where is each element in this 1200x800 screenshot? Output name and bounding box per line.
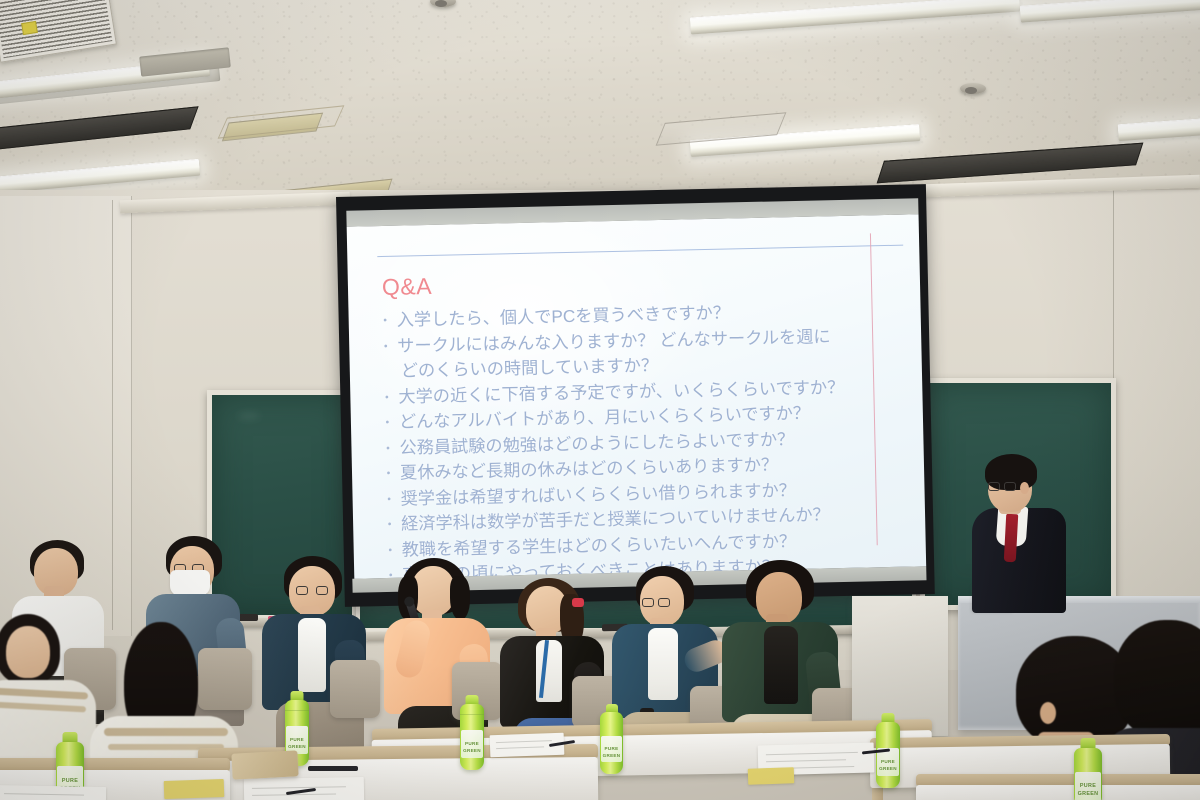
attendee-hair [1114,620,1200,738]
bottle-label: PURE GREEN [1075,772,1101,800]
bottle-brand-line2: GREEN [286,744,308,749]
sticky-note[interactable] [748,767,795,785]
teacher-ear [1020,482,1029,494]
bottle-brand-line1: PURE [57,778,83,784]
bottle-ring [460,714,484,715]
desk-pen-groove [308,766,358,771]
slide-bullet-list: ・ 入学したら、個人でPCを買うべきですか？ ・ サークルにはみんな入りますか？… [378,297,900,579]
bottle-brand-line1: PURE [877,759,899,764]
teacher-glasses-icon [988,482,1016,490]
bullet-marker-icon: ・ [379,333,393,359]
bottle-label: PURE GREEN [601,736,622,762]
attendee-ear [1040,702,1056,724]
paper-line [496,746,544,749]
person-student-navy-shirt [262,556,374,756]
slide-title: Q&A [382,273,433,301]
wooden-clipboard[interactable] [231,750,298,779]
paper-line [766,752,858,755]
bottle-brand-line1: PURE [286,737,308,742]
bullet-marker-icon: ・ [380,384,394,410]
drink-bottle[interactable]: PURE GREEN [600,712,623,774]
attendee-head [6,626,50,678]
bottle-brand-line2: GREEN [461,748,483,753]
bottle-brand-line1: PURE [601,746,622,751]
teacher-necktie [1004,514,1018,563]
paper-line [496,740,552,743]
slide-canvas: Q&A ・ 入学したら、個人でPCを買うべきですか？ ・ サークルにはみんな入り… [347,214,927,578]
bottle-brand-line1: PURE [1075,783,1101,789]
bullet-marker-icon: ・ [383,512,397,538]
handout-paper[interactable] [0,785,106,800]
drink-bottle[interactable]: PURE GREEN [1074,748,1102,800]
drink-bottle[interactable]: PURE GREEN [876,722,900,788]
slide-header-rule [377,245,903,257]
bullet-marker-icon: ・ [378,308,392,334]
bullet-marker-icon: ・ [382,461,396,487]
paper-line [4,793,84,795]
drink-bottle[interactable]: PURE GREEN [460,704,484,770]
student-hair-side [450,576,470,620]
desk-surface [916,785,1200,800]
bottle-brand-line2: GREEN [877,766,899,771]
sticky-note[interactable] [164,779,225,799]
student-black-tee [764,626,798,704]
person-teacher-suit [966,450,1086,610]
student-white-undershirt [298,618,326,692]
classroom-photo: Q&A ・ 入学したら、個人でPCを買うべきですか？ ・ サークルにはみんな入り… [0,0,1200,800]
bullet-marker-icon: ・ [381,410,395,436]
smoke-detector-icon [960,83,986,94]
student-white-undershirt [648,628,678,700]
hair-clip-icon [572,598,584,607]
bullet-marker-icon: ・ [382,486,396,512]
room-partition [852,596,948,736]
bottle-ring [285,710,309,711]
sailor-collar-stripe [104,728,228,736]
bottle-brand-line1: PURE [461,741,483,746]
chalk-smudge [238,413,260,419]
student-glasses-icon [296,586,328,595]
student-glasses-icon [642,598,670,606]
bullet-marker-icon: ・ [381,435,395,461]
projection-screen: Q&A ・ 入学したら、個人でPCを買うべきですか？ ・ サークルにはみんな入り… [336,184,935,607]
vent-warning-label [21,21,38,35]
paper-line [252,786,346,789]
bottle-brand-line2: GREEN [601,753,622,758]
paper-line [766,759,846,762]
bottle-brand-line2: GREEN [1075,791,1101,797]
bottle-label: PURE GREEN [461,730,483,758]
desk-front-right [916,774,1200,800]
face-mask [170,570,210,596]
chair [330,660,380,718]
